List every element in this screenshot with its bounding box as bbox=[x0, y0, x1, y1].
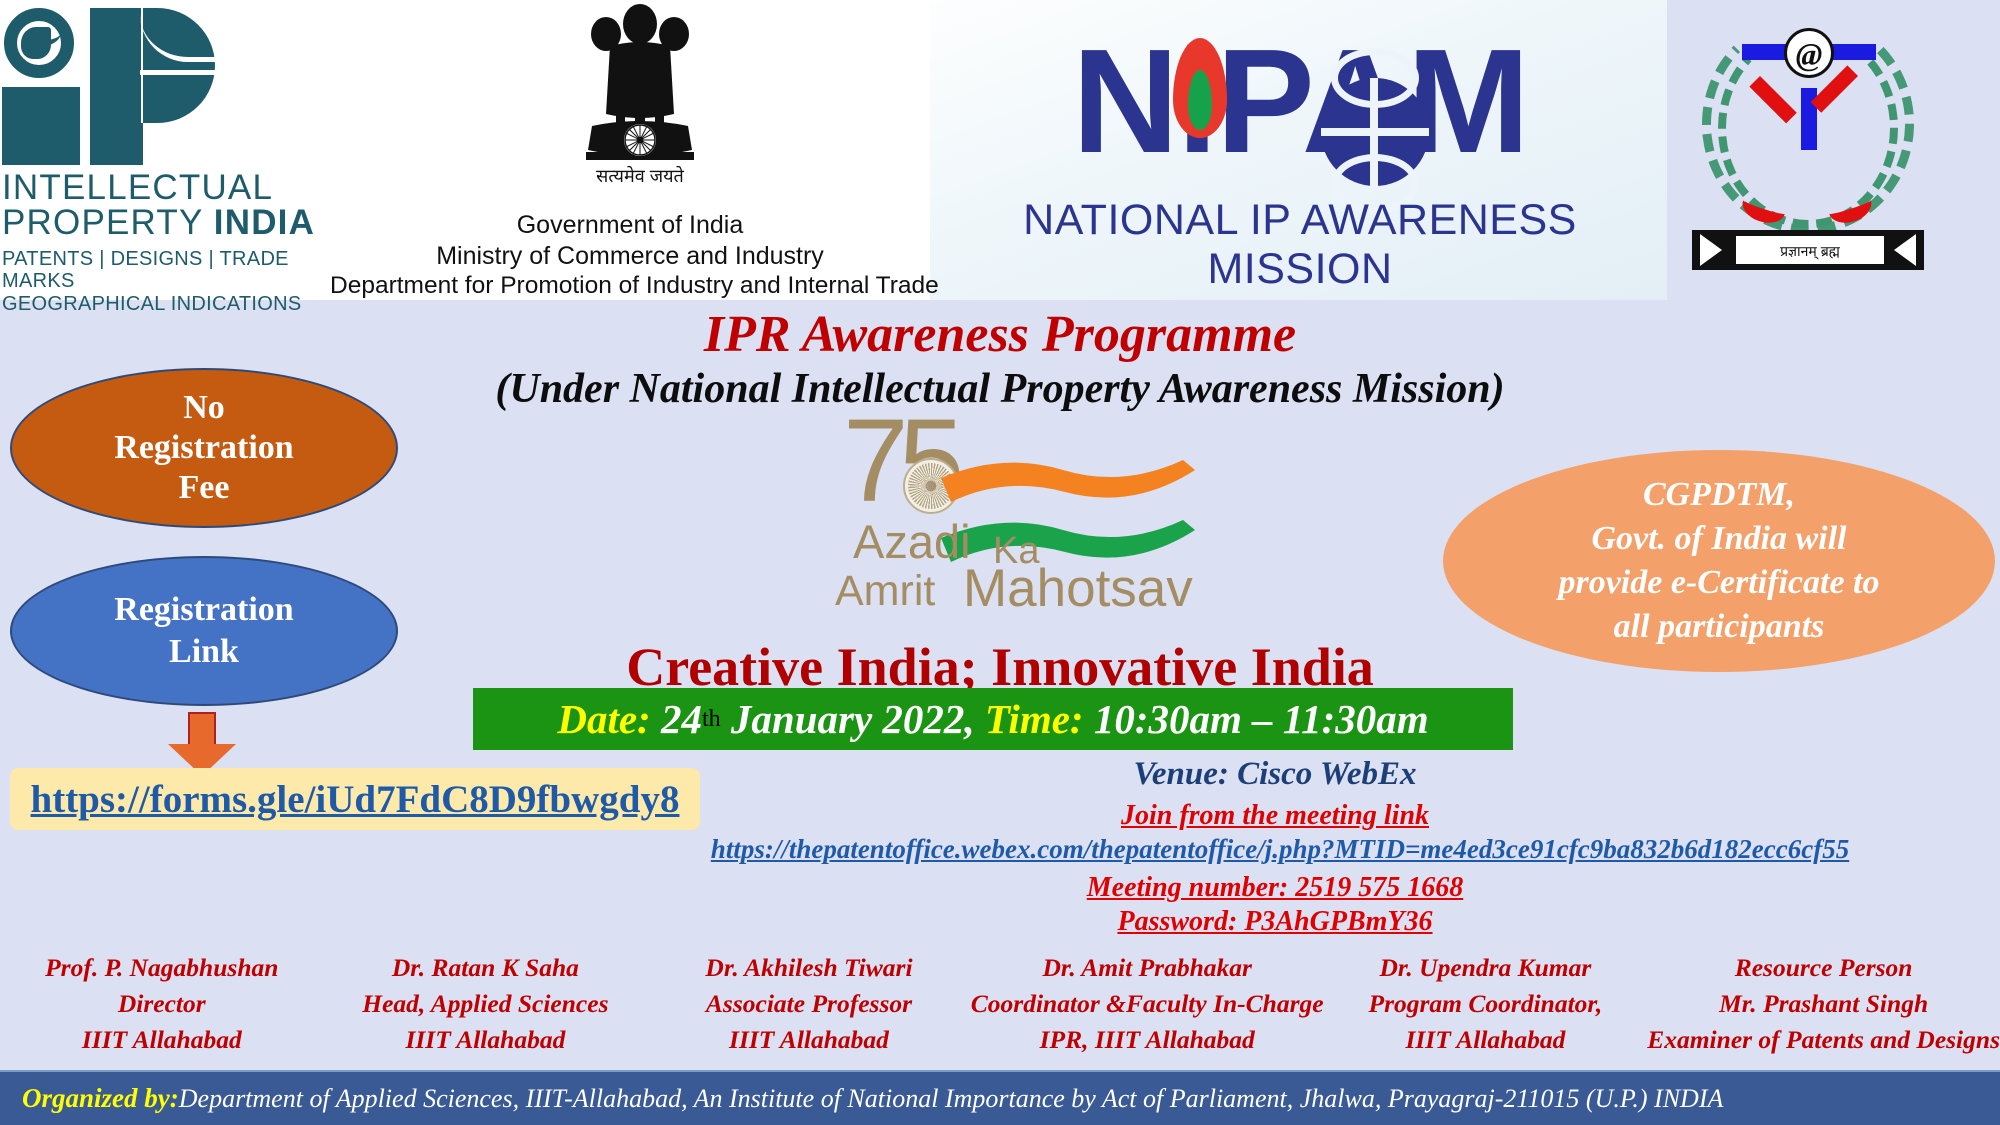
person-role: Head, Applied Sciences bbox=[324, 986, 648, 1022]
person-name: Dr. Akhilesh Tiwari bbox=[647, 950, 971, 986]
time-label: Time: bbox=[985, 695, 1084, 743]
person-org: IIIT Allahabad bbox=[0, 1022, 324, 1058]
azadi-word-azadi: Azadi bbox=[853, 518, 971, 565]
no-registration-fee-badge: No Registration Fee bbox=[10, 368, 398, 528]
certificate-text: CGPDTM, Govt. of India will provide e-Ce… bbox=[1558, 473, 1879, 650]
no-fee-text: No Registration Fee bbox=[114, 388, 293, 508]
person-role: Program Coordinator, bbox=[1324, 986, 1648, 1022]
ip-india-logo: INTELLECTUAL PROPERTY INDIA PATENTS | DE… bbox=[0, 2, 340, 302]
ip-india-wordmark: INTELLECTUAL PROPERTY INDIA bbox=[2, 170, 315, 240]
person-card: Dr. Amit Prabhakar Coordinator &Faculty … bbox=[971, 950, 1324, 1060]
ip-india-line1: INTELLECTUAL bbox=[2, 170, 315, 205]
india-state-emblem: सत्यमेव जयते bbox=[540, 2, 740, 202]
ip-block-icon bbox=[2, 87, 80, 165]
date-value: 24 bbox=[651, 695, 702, 743]
date-rest: January 2022, bbox=[721, 695, 985, 743]
gov-line-1: Government of India bbox=[330, 210, 930, 241]
at-symbol-icon: @ bbox=[1784, 28, 1834, 78]
person-card: Dr. Ratan K Saha Head, Applied Sciences … bbox=[324, 950, 648, 1060]
ip-ball-icon bbox=[143, 8, 215, 123]
globe-head-icon bbox=[4, 8, 74, 78]
organized-by-text: Department of Applied Sciences, IIIT-All… bbox=[179, 1084, 1724, 1114]
person-name: Dr. Amit Prabhakar bbox=[971, 950, 1324, 986]
person-name: Prof. P. Nagabhushan bbox=[0, 950, 324, 986]
person-role: Director bbox=[0, 986, 324, 1022]
person-org: IIIT Allahabad bbox=[1324, 1022, 1648, 1058]
date-label: Date: bbox=[557, 695, 650, 743]
person-role: Mr. Prashant Singh bbox=[1647, 986, 2000, 1022]
blue-bar-right-icon bbox=[1828, 44, 1876, 60]
organized-by-footer: Organized by: Department of Applied Scie… bbox=[0, 1070, 2000, 1125]
azadi-word-mahotsav: Mahotsav bbox=[963, 562, 1193, 615]
nipam-logo: NiPAM NATIONAL IP AWARENESS MISSION bbox=[945, 10, 1655, 300]
azadi-word-amrit: Amrit bbox=[835, 570, 935, 613]
date-time-banner: Date: 24th January 2022, Time: 10:30am –… bbox=[473, 688, 1513, 750]
person-card: Dr. Upendra Kumar Program Coordinator, I… bbox=[1324, 950, 1648, 1060]
person-org: IPR, IIIT Allahabad bbox=[971, 1022, 1324, 1058]
webex-meeting-url[interactable]: https://thepatentoffice.webex.com/thepat… bbox=[600, 834, 1960, 865]
emblem-motto: सत्यमेव जयते bbox=[540, 164, 740, 188]
people-row: Prof. P. Nagabhushan Director IIIT Allah… bbox=[0, 950, 2000, 1060]
registration-url-link[interactable]: https://forms.gle/iUd7FdC8D9fbwgdy8 bbox=[31, 777, 680, 822]
blue-bar-left-icon bbox=[1742, 44, 1790, 60]
iiit-allahabad-logo: @ प्रज्ञानम् ब्रह्म bbox=[1692, 2, 1924, 298]
header-logo-bar: INTELLECTUAL PROPERTY INDIA PATENTS | DE… bbox=[0, 0, 2000, 300]
organized-by-label: Organized by: bbox=[0, 1083, 179, 1114]
person-name: Resource Person bbox=[1647, 950, 2000, 986]
ip-p-stem-icon bbox=[90, 8, 143, 165]
person-card: Prof. P. Nagabhushan Director IIIT Allah… bbox=[0, 950, 324, 1060]
person-name: Dr. Ratan K Saha bbox=[324, 950, 648, 986]
join-meeting-label: Join from the meeting link bbox=[700, 800, 1850, 832]
nipam-subtitle: NATIONAL IP AWARENESS MISSION bbox=[945, 196, 1655, 294]
person-org: IIIT Allahabad bbox=[324, 1022, 648, 1058]
person-role: Associate Professor bbox=[647, 986, 971, 1022]
azadi-ka-amrit-mahotsav-logo: 75 Azadi Ka Amrit Mahotsav bbox=[815, 400, 1215, 630]
meeting-number: Meeting number: 2519 575 1668 bbox=[700, 872, 1850, 904]
date-ordinal-suffix: th bbox=[702, 706, 721, 733]
gov-line-2: Ministry of Commerce and Industry bbox=[330, 241, 930, 272]
ip-india-line3: PATENTS | DESIGNS | TRADE MARKS bbox=[2, 248, 340, 293]
time-value: 10:30am – 11:30am bbox=[1084, 695, 1429, 743]
government-of-india-text: Government of India Ministry of Commerce… bbox=[330, 210, 930, 301]
person-org: Examiner of Patents and Designs bbox=[1647, 1022, 2000, 1058]
down-arrow-icon bbox=[188, 712, 216, 746]
registration-url-box[interactable]: https://forms.gle/iUd7FdC8D9fbwgdy8 bbox=[10, 768, 700, 830]
page-title: IPR Awareness Programme bbox=[0, 305, 2000, 364]
person-role: Coordinator &Faculty In-Charge bbox=[971, 986, 1324, 1022]
venue-text: Venue: Cisco WebEx bbox=[700, 756, 1850, 793]
meeting-password: Password: P3AhGPBmY36 bbox=[700, 906, 1850, 938]
iiit-motto: प्रज्ञानम् ब्रह्म bbox=[1734, 234, 1886, 266]
person-card: Dr. Akhilesh Tiwari Associate Professor … bbox=[647, 950, 971, 1060]
person-org: IIIT Allahabad bbox=[647, 1022, 971, 1058]
ashoka-lion-capital-icon bbox=[570, 2, 710, 168]
ip-india-mark-icon bbox=[2, 4, 212, 166]
nipam-ball-icon bbox=[1321, 78, 1429, 186]
nipam-wordmark: NiPAM bbox=[945, 28, 1655, 176]
poster-canvas: INTELLECTUAL PROPERTY INDIA PATENTS | DE… bbox=[0, 0, 2000, 1125]
gov-line-3: Department for Promotion of Industry and… bbox=[330, 271, 930, 301]
person-name: Dr. Upendra Kumar bbox=[1324, 950, 1648, 986]
ip-india-line2: PROPERTY INDIA bbox=[2, 205, 315, 240]
person-card: Resource Person Mr. Prashant Singh Exami… bbox=[1647, 950, 2000, 1060]
